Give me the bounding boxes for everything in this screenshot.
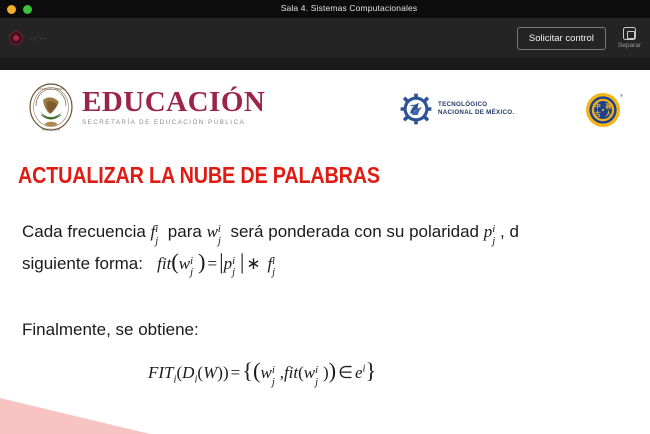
formula-fit-name: fit <box>157 254 171 273</box>
var-e: e <box>355 363 363 382</box>
var-p: p <box>224 254 233 273</box>
brace-close: } <box>366 358 377 383</box>
var-w: w <box>207 222 218 241</box>
svg-text:®: ® <box>620 93 623 98</box>
share-toolbar: --:-- Solicitar control Separar <box>0 18 650 58</box>
var-p: p <box>484 222 493 241</box>
gear-eagle-icon <box>400 93 432 125</box>
var-W: W <box>203 363 217 382</box>
record-timer: --:-- <box>30 33 46 43</box>
equals-sign: = <box>205 254 219 273</box>
detach-label: Separar <box>618 42 641 49</box>
toolbar-left-group: --:-- <box>0 31 46 45</box>
var-w: w <box>179 254 190 273</box>
brace-open: { <box>242 358 253 383</box>
tecnm-logo: TECNOLÓGICO NACIONAL DE MÉXICO. <box>400 93 514 125</box>
tecnm-wordmark: TECNOLÓGICO NACIONAL DE MÉXICO. <box>438 101 514 116</box>
shared-slide: ESTADOS UNIDOS MEXICANOS EDUCACIÓN SECRE… <box>0 70 650 434</box>
paren-close-inner: ) <box>329 358 336 383</box>
text-run: será ponderada con su polaridad <box>226 222 484 241</box>
text-run: para <box>163 222 206 241</box>
detach-icon <box>623 27 636 40</box>
window-title: Sala 4. Sistemas Computacionales <box>0 3 650 13</box>
request-control-button[interactable]: Solicitar control <box>517 27 606 50</box>
detach-button[interactable]: Separar <box>618 27 641 49</box>
svg-text:古: 古 <box>594 109 601 118</box>
pink-corner-decoration <box>0 398 150 434</box>
slide-body: Cada frecuencia fij para wij será ponder… <box>22 218 650 280</box>
var-D: D <box>182 363 194 382</box>
sep-wordmark: EDUCACIÓN SECRETARÍA DE EDUCACIÓN PÚBLIC… <box>82 88 265 126</box>
formula-final: FITi(Di(W))={(wij,fit(wij))∈ei} <box>148 358 376 384</box>
tecnm-line1: TECNOLÓGICO <box>438 101 514 109</box>
text-run: , d <box>500 222 519 241</box>
element-of-sign: ∈ <box>336 363 355 382</box>
paren-open: ( <box>171 249 178 274</box>
window-titlebar: Sala 4. Sistemas Computacionales <box>0 0 650 18</box>
toolbar-right-group: Solicitar control Separar <box>517 27 650 50</box>
paren-close-1: ) <box>223 363 229 382</box>
svg-text:人: 人 <box>605 109 612 118</box>
institute-seal-icon: 中 高 古 人 ® <box>584 90 624 130</box>
institute-logo: 中 高 古 人 ® <box>584 90 624 130</box>
equals-sign: = <box>229 363 243 382</box>
finally-label: Finalmente, se obtiene: <box>22 320 199 340</box>
svg-text:中: 中 <box>594 101 601 110</box>
slide-logo-row: ESTADOS UNIDOS MEXICANOS EDUCACIÓN SECRE… <box>0 82 650 144</box>
times-sign: ∗ <box>244 254 262 273</box>
svg-text:MEXICANOS: MEXICANOS <box>42 128 61 132</box>
svg-text:ESTADOS UNIDOS: ESTADOS UNIDOS <box>38 87 64 91</box>
sep-subtitle: SECRETARÍA DE EDUCACIÓN PÚBLICA <box>82 120 265 126</box>
svg-text:高: 高 <box>605 101 612 110</box>
screen-share-window: Sala 4. Sistemas Computacionales --:-- S… <box>0 0 650 434</box>
fit-func-name-inner: fit <box>284 363 298 382</box>
tecnm-line2: NACIONAL DE MÉXICO. <box>438 109 514 117</box>
paragraph-line-2: siguiente forma: fit(wij)=|pij|∗ fij <box>22 244 650 280</box>
var-w-2: w <box>304 363 315 382</box>
slide-heading: ACTUALIZAR LA NUBE DE PALABRAS <box>18 162 380 189</box>
var-w: w <box>261 363 272 382</box>
text-run: siguiente forma: <box>22 254 143 273</box>
toolbar-bottom-edge <box>0 58 650 70</box>
record-icon[interactable] <box>9 31 23 45</box>
text-run: Cada frecuencia <box>22 222 151 241</box>
fit-func-name: FIT <box>148 363 174 382</box>
paren-open-inner: ( <box>253 358 260 383</box>
mexico-coat-of-arms-icon: ESTADOS UNIDOS MEXICANOS <box>28 82 74 132</box>
sep-logo: ESTADOS UNIDOS MEXICANOS EDUCACIÓN SECRE… <box>28 82 265 132</box>
paragraph-line-1: Cada frecuencia fij para wij será ponder… <box>22 218 650 246</box>
sep-title: EDUCACIÓN <box>82 88 265 117</box>
